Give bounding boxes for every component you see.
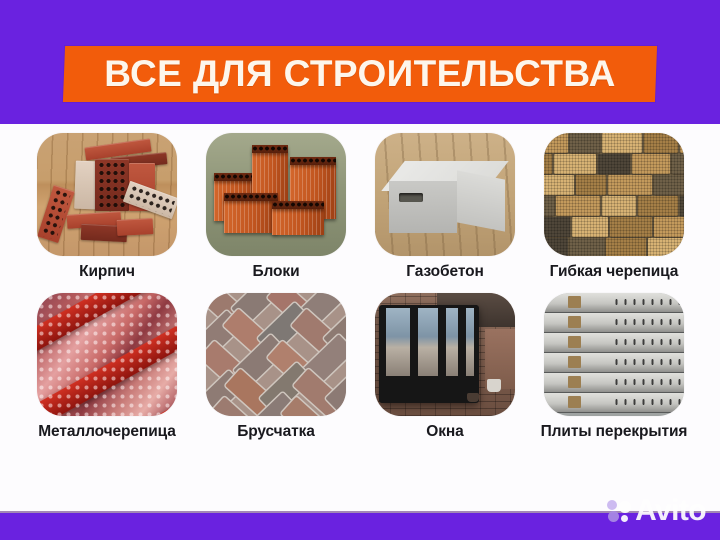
bitumen-shingles-photo: [544, 133, 684, 256]
aerated-concrete-block-photo: [375, 133, 515, 256]
catalog-grid: Кирпич Блоки: [31, 133, 691, 440]
catalog-item-label: Окна: [426, 423, 463, 440]
catalog-item-kirpich[interactable]: Кирпич: [31, 133, 183, 280]
catalog-item-label: Газобетон: [406, 263, 484, 280]
advert-image: ВСЕ ДЛЯ СТРОИТЕЛЬСТВА: [0, 0, 720, 540]
avito-dots-logo: [607, 500, 631, 522]
catalog-item-label: Металлочерепица: [38, 423, 176, 440]
catalog-item-label: Брусчатка: [237, 423, 315, 440]
catalog-item-bruschatka[interactable]: Брусчатка: [200, 293, 352, 440]
headline-banner: ВСЕ ДЛЯ СТРОИТЕЛЬСТВА: [63, 46, 657, 102]
catalog-item-gibkaya-cherepica[interactable]: Гибкая черепица: [538, 133, 690, 280]
catalog-item-label: Кирпич: [79, 263, 135, 280]
house-windows-photo: [375, 293, 515, 416]
catalog-item-bloki[interactable]: Блоки: [200, 133, 352, 280]
header-band: ВСЕ ДЛЯ СТРОИТЕЛЬСТВА: [0, 0, 720, 124]
catalog-item-metallocherepica[interactable]: Металлочерепица: [31, 293, 183, 440]
catalog-card: Кирпич Блоки: [0, 124, 720, 513]
avito-watermark: Avito: [607, 496, 706, 526]
catalog-item-label: Блоки: [252, 263, 299, 280]
herringbone-paving-photo: [206, 293, 346, 416]
hollow-core-slabs-photo: [544, 293, 684, 416]
bricks-on-wood-photo: [37, 133, 177, 256]
catalog-item-label: Гибкая черепица: [550, 263, 679, 280]
catalog-item-gazobeton[interactable]: Газобетон: [369, 133, 521, 280]
catalog-item-plity-perekrytiya[interactable]: Плиты перекрытия: [538, 293, 690, 440]
avito-wordmark: Avito: [635, 496, 706, 526]
red-metal-roof-tile-photo: [37, 293, 177, 416]
catalog-item-label: Плиты перекрытия: [541, 423, 688, 440]
ceramic-blocks-photo: [206, 133, 346, 256]
headline-text: ВСЕ ДЛЯ СТРОИТЕЛЬСТВА: [104, 55, 615, 93]
catalog-item-okna[interactable]: Окна: [369, 293, 521, 440]
